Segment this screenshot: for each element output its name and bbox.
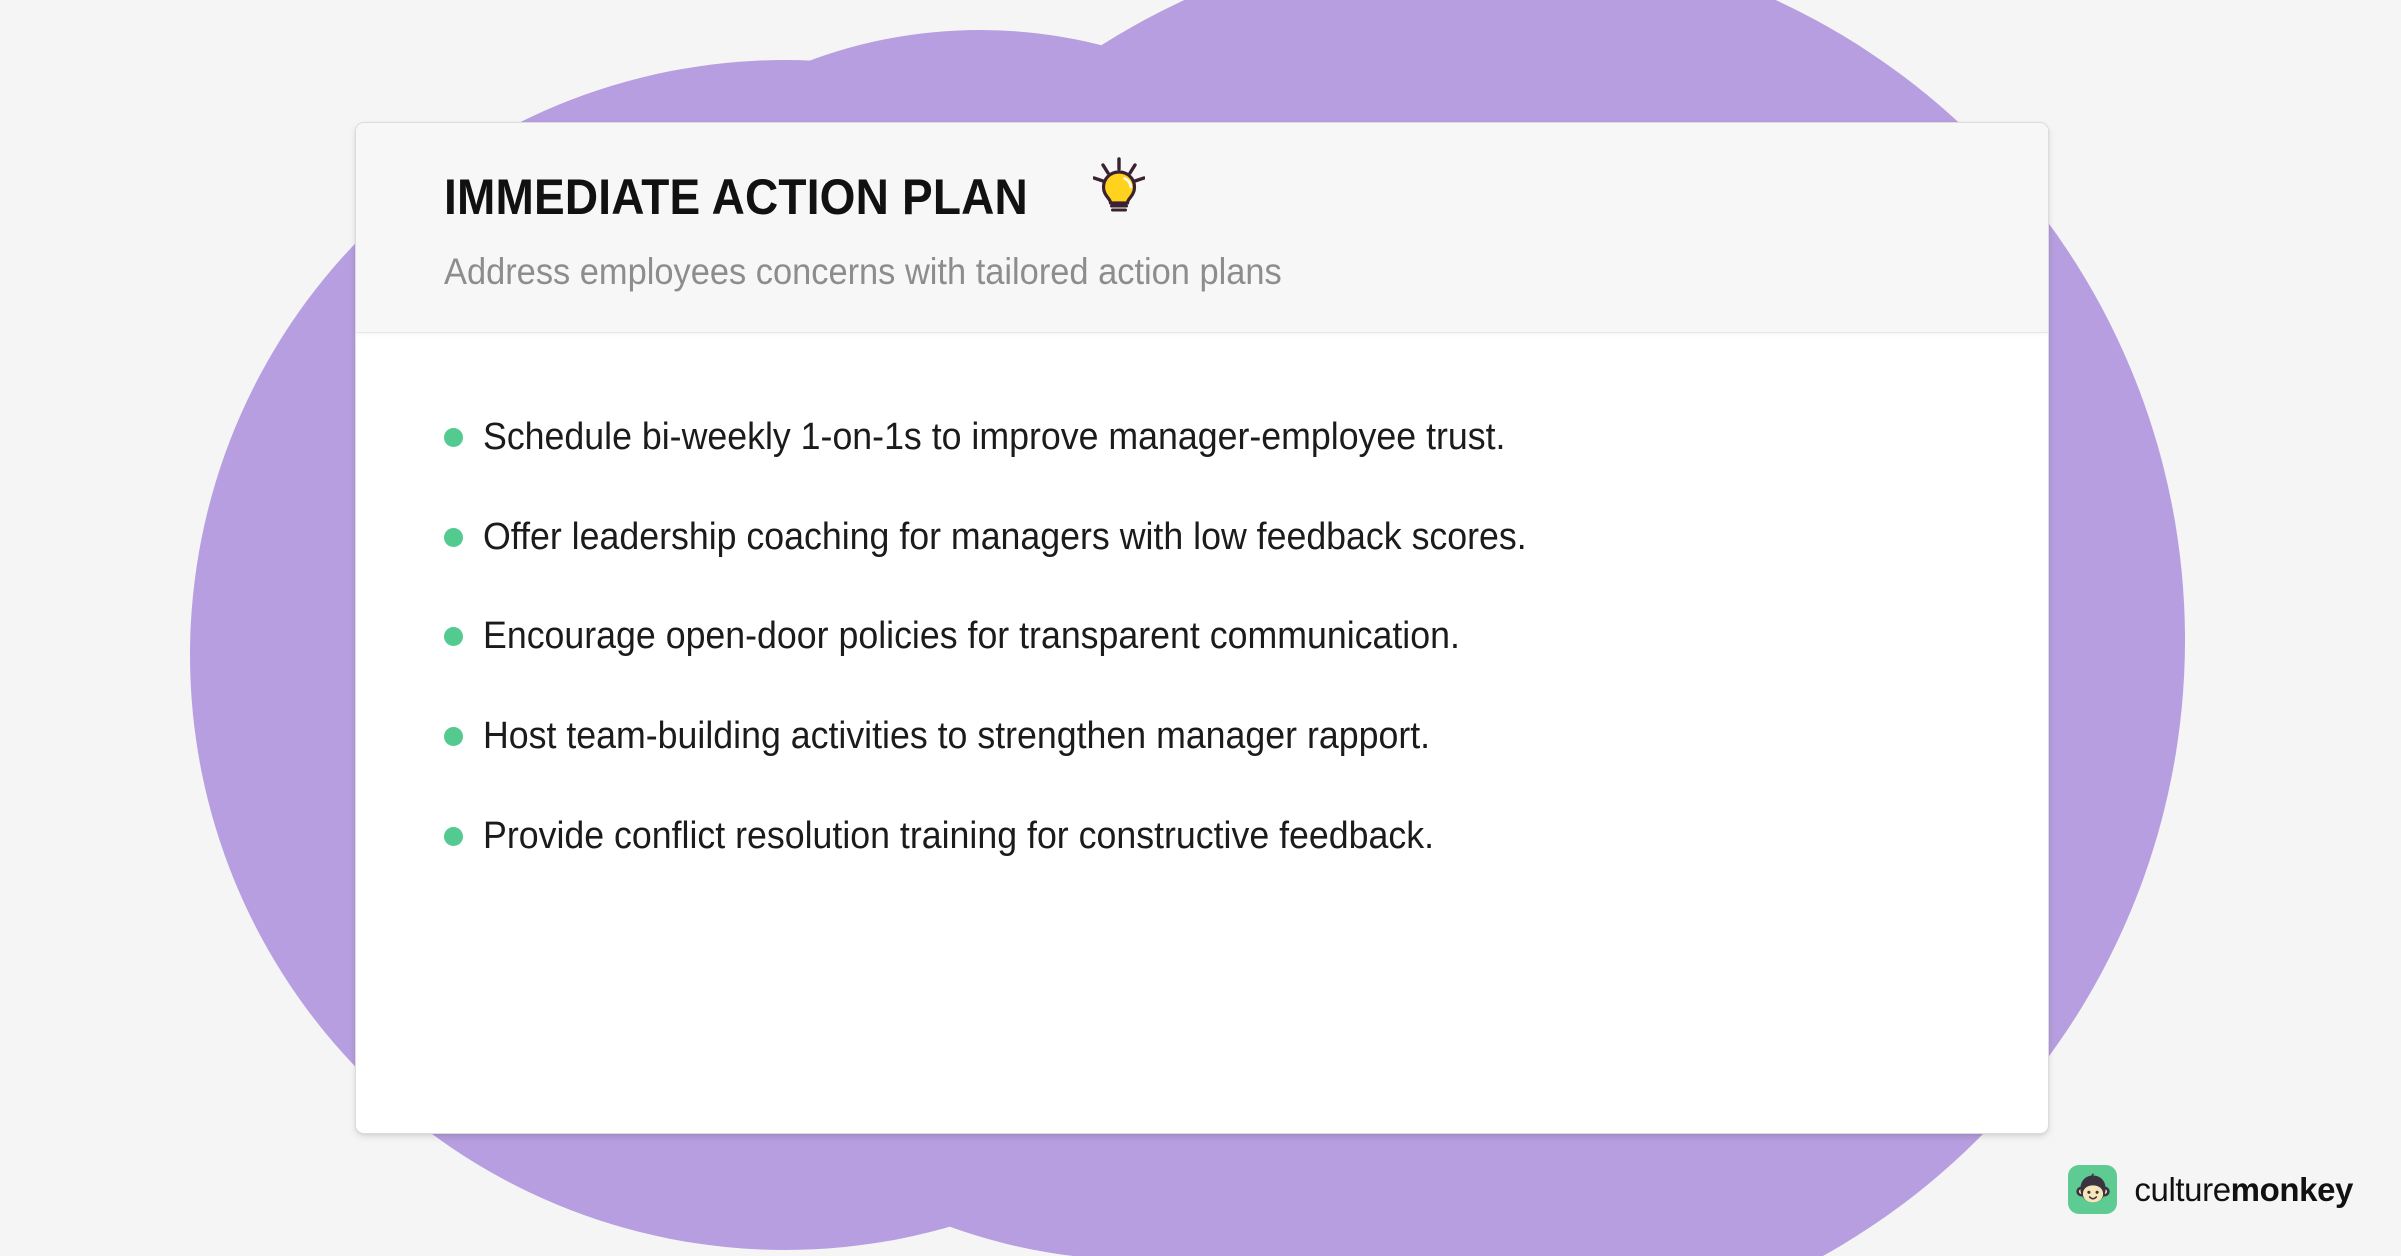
immediate-action-plan-card: IMMEDIATE ACTION PLAN Address employees … [355,122,2049,1134]
culturemonkey-logo: culturemonkey [2068,1165,2353,1214]
action-item-list: Schedule bi-weekly 1-on-1s to improve ma… [444,393,1978,859]
page-title: IMMEDIATE ACTION PLAN [444,171,1028,224]
action-item-text: Encourage open-door policies for transpa… [483,614,1460,660]
card-header: IMMEDIATE ACTION PLAN Address employees … [356,123,2048,333]
bullet-dot-icon [444,428,463,447]
list-item: Offer leadership coaching for managers w… [444,515,1978,561]
list-item: Encourage open-door policies for transpa… [444,614,1978,660]
bullet-dot-icon [444,528,463,547]
action-item-text: Schedule bi-weekly 1-on-1s to improve ma… [483,415,1505,461]
card-subtitle: Address employees concerns with tailored… [444,252,1936,293]
list-item: Provide conflict resolution training for… [444,814,1978,860]
bullet-dot-icon [444,827,463,846]
monkey-face-icon [2068,1165,2117,1214]
action-item-text: Host team-building activities to strengt… [483,714,1430,760]
brand-word-monkey: monkey [2231,1171,2353,1208]
action-item-text: Provide conflict resolution training for… [483,814,1434,860]
card-body: Schedule bi-weekly 1-on-1s to improve ma… [356,333,2048,1133]
bullet-dot-icon [444,627,463,646]
brand-wordmark: culturemonkey [2134,1173,2353,1206]
list-item: Host team-building activities to strengt… [444,714,1978,760]
list-item: Schedule bi-weekly 1-on-1s to improve ma… [444,415,1978,461]
lightbulb-icon [1093,157,1145,213]
brand-word-culture: culture [2134,1171,2230,1208]
bullet-dot-icon [444,727,463,746]
card-title-row: IMMEDIATE ACTION PLAN [444,171,2048,224]
action-item-text: Offer leadership coaching for managers w… [483,515,1527,561]
